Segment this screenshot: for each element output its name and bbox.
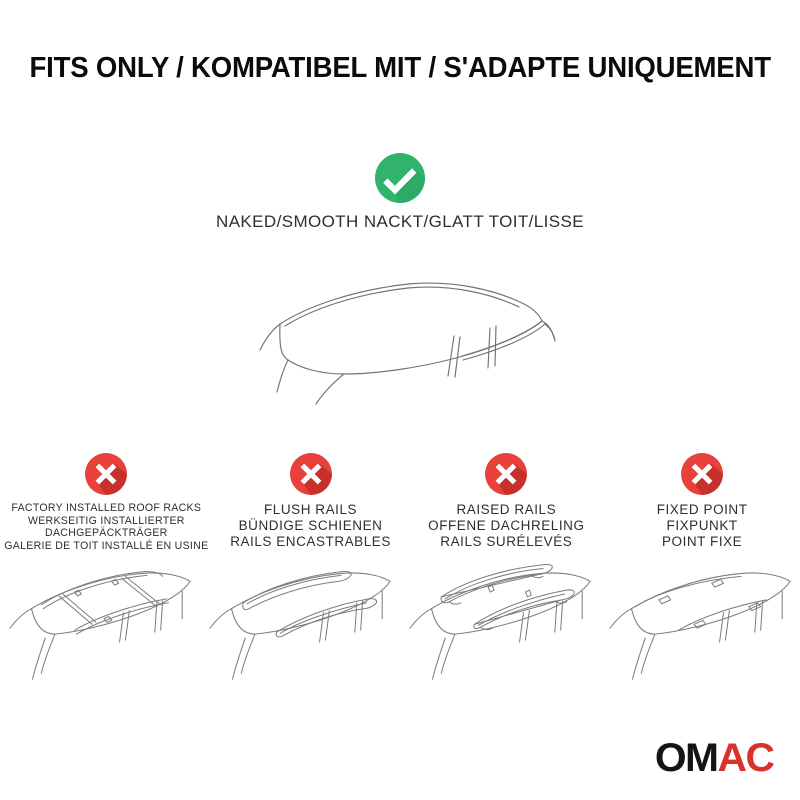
incompatible-item-factory-roof-racks: FACTORY INSTALLED ROOF RACKS WERKSEITIG …: [0, 452, 213, 552]
car-roof-fixed-point-illustration: [600, 548, 800, 685]
omac-logo-red-text: AC: [717, 736, 773, 780]
incompatible-section: FACTORY INSTALLED ROOF RACKS WERKSEITIG …: [0, 452, 800, 552]
x-circle-icon: [680, 452, 724, 496]
x-circle-icon: [484, 452, 528, 496]
page-title-text: FITS ONLY / KOMPATIBEL MIT / S'ADAPTE UN…: [29, 52, 770, 85]
omac-logo-dark-text: OM: [655, 736, 718, 780]
page-title: FITS ONLY / KOMPATIBEL MIT / S'ADAPTE UN…: [0, 52, 800, 85]
incompatible-label: FACTORY INSTALLED ROOF RACKS WERKSEITIG …: [4, 502, 208, 552]
incompatible-item-fixed-point: FIXED POINT FIXPUNKT POINT FIXE: [604, 452, 800, 550]
incompatible-label-line-1: FACTORY INSTALLED ROOF RACKS: [4, 502, 208, 515]
compatible-section: NAKED/SMOOTH NACKT/GLATT TOIT/LISSE: [0, 152, 800, 231]
incompatible-label: RAISED RAILS OFFENE DACHRELING RAILS SUR…: [408, 502, 604, 550]
incompatible-label-line-3: DACHGEPÄCKTRÄGER: [4, 527, 208, 540]
incompatible-label-line-1: FLUSH RAILS: [213, 502, 409, 518]
incompatible-label-line-2: FIXPUNKT: [604, 518, 800, 534]
compatible-label-line-2: NACKT/GLATT: [364, 212, 484, 231]
incompatible-label-line-2: BÜNDIGE SCHIENEN: [213, 518, 409, 534]
incompatible-item-raised-rails: RAISED RAILS OFFENE DACHRELING RAILS SUR…: [408, 452, 604, 550]
car-roof-flush-rails-illustration: [200, 548, 400, 685]
incompatible-label-line-2: OFFENE DACHRELING: [408, 518, 604, 534]
compatible-label: NAKED/SMOOTH NACKT/GLATT TOIT/LISSE: [0, 212, 800, 231]
omac-logo: OMAC: [655, 738, 774, 778]
check-circle-icon: [374, 152, 426, 204]
car-roof-naked-smooth-illustration: [258, 276, 568, 406]
x-circle-icon: [84, 452, 128, 496]
incompatible-item-flush-rails: FLUSH RAILS BÜNDIGE SCHIENEN RAILS ENCAS…: [213, 452, 409, 550]
incompatible-label-line-2: WERKSEITIG INSTALLIERTER: [4, 515, 208, 528]
car-roof-factory-roof-racks-illustration: [0, 548, 200, 685]
car-roof-raised-rails-illustration: [400, 548, 600, 685]
incompatible-label: FLUSH RAILS BÜNDIGE SCHIENEN RAILS ENCAS…: [213, 502, 409, 550]
compatible-label-line-1: NAKED/SMOOTH: [216, 212, 359, 231]
incompatible-label-line-1: FIXED POINT: [604, 502, 800, 518]
x-circle-icon: [289, 452, 333, 496]
compatible-label-line-3: TOIT/LISSE: [489, 212, 584, 231]
incompatible-label: FIXED POINT FIXPUNKT POINT FIXE: [604, 502, 800, 550]
incompatible-illustrations: [0, 548, 800, 685]
incompatible-label-line-1: RAISED RAILS: [408, 502, 604, 518]
